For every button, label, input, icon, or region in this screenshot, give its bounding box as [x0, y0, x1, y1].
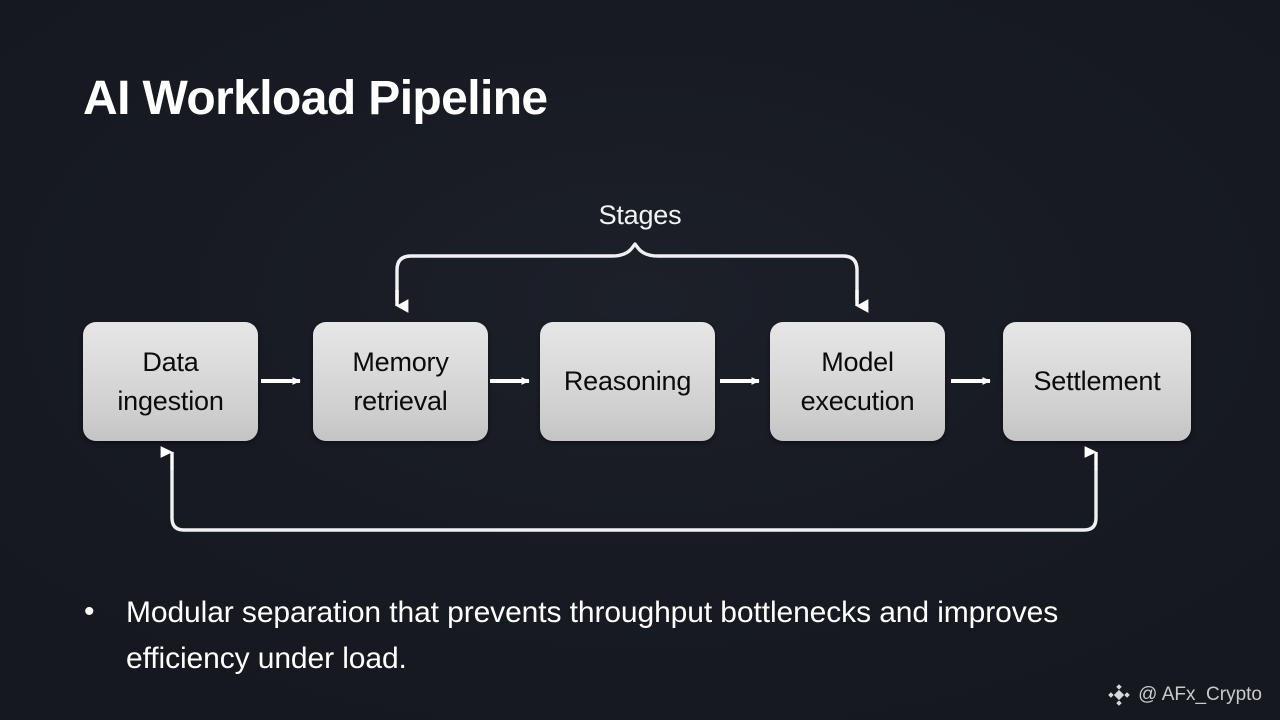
- node-data-ingestion-line1: Data: [117, 343, 223, 381]
- stages-brace: [397, 244, 857, 300]
- stages-group-label-text: Stages: [599, 200, 682, 231]
- node-memory-retrieval-line1: Memory: [352, 343, 448, 381]
- node-reasoning-line1: Reasoning: [564, 362, 691, 400]
- feedback-loop: [172, 470, 1096, 530]
- watermark-handle: @ AFx_Crypto: [1138, 684, 1262, 706]
- node-model-execution[interactable]: Model execution: [770, 322, 945, 441]
- node-data-ingestion-line2: ingestion: [117, 382, 223, 420]
- node-memory-retrieval-line2: retrieval: [352, 382, 448, 420]
- bullet-list: • Modular separation that prevents throu…: [82, 590, 1162, 682]
- stages-group-label: Stages: [0, 200, 1280, 231]
- bullet-text: Modular separation that prevents through…: [126, 590, 1116, 682]
- node-reasoning[interactable]: Reasoning: [540, 322, 715, 441]
- binance-diamond-icon: [1108, 684, 1130, 706]
- slide-canvas: AI Workload Pipeline: [0, 0, 1280, 720]
- bullet-marker: •: [82, 590, 126, 634]
- node-model-execution-line2: execution: [801, 382, 915, 420]
- node-memory-retrieval[interactable]: Memory retrieval: [313, 322, 488, 441]
- node-settlement-line1: Settlement: [1033, 362, 1160, 400]
- watermark: @ AFx_Crypto: [1108, 684, 1262, 706]
- node-data-ingestion[interactable]: Data ingestion: [83, 322, 258, 441]
- node-settlement[interactable]: Settlement: [1003, 322, 1191, 441]
- node-model-execution-line1: Model: [801, 343, 915, 381]
